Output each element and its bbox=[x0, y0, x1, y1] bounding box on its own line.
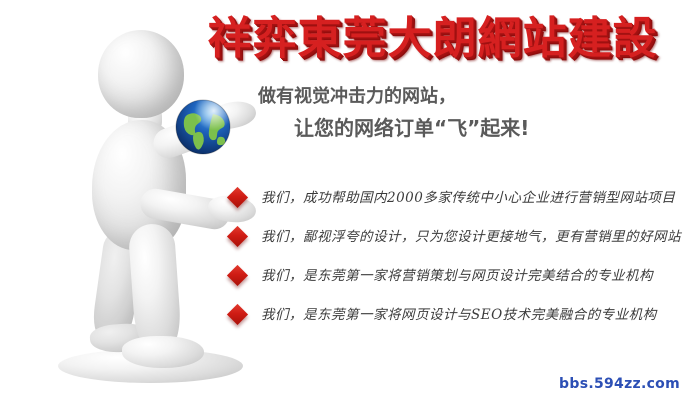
list-item-label: 我们，鄙视浮夸的设计，只为您设计更接地气，更有营销里的好网站 bbox=[261, 228, 681, 246]
diamond-bullet-icon bbox=[227, 265, 248, 286]
figure-front-foot bbox=[122, 336, 204, 368]
earth-globe-icon bbox=[173, 97, 233, 157]
list-item: 我们，鄙视浮夸的设计，只为您设计更接地气，更有营销里的好网站 bbox=[230, 217, 675, 256]
list-item-label: 我们，是东莞第一家将营销策划与网页设计完美结合的专业机构 bbox=[261, 267, 653, 285]
feature-list: 我们，成功帮助国内2000多家传统中小心企业进行营销型网站项目 我们，鄙视浮夸的… bbox=[230, 178, 675, 334]
list-item-label: 我们，成功帮助国内2000多家传统中小心企业进行营销型网站项目 bbox=[261, 189, 675, 207]
mascot-figure bbox=[40, 24, 255, 394]
diamond-bullet-icon bbox=[227, 187, 248, 208]
list-item: 我们，是东莞第一家将营销策划与网页设计完美结合的专业机构 bbox=[230, 256, 675, 295]
list-item-label: 我们，是东莞第一家将网页设计与SEO技术完美融合的专业机构 bbox=[261, 306, 657, 324]
subtitle-line-1: 做有视觉冲击力的网站， bbox=[258, 84, 658, 110]
figure-head bbox=[98, 30, 184, 118]
diamond-bullet-icon bbox=[227, 304, 248, 325]
site-watermark: bbs.594zz.com bbox=[559, 376, 680, 392]
list-item: 我们，是东莞第一家将网页设计与SEO技术完美融合的专业机构 bbox=[230, 295, 675, 334]
promo-banner: 祥弈東莞大朗網站建設 做有视觉冲击力的网站， 让您的网络订单“飞”起来! 我们，… bbox=[0, 0, 692, 400]
diamond-bullet-icon bbox=[227, 226, 248, 247]
banner-title: 祥弈東莞大朗網站建設 bbox=[190, 14, 675, 64]
banner-subtitle: 做有视觉冲击力的网站， 让您的网络订单“飞”起来! bbox=[258, 84, 658, 142]
list-item: 我们，成功帮助国内2000多家传统中小心企业进行营销型网站项目 bbox=[230, 178, 675, 217]
subtitle-line-2: 让您的网络订单“飞”起来! bbox=[258, 114, 658, 142]
